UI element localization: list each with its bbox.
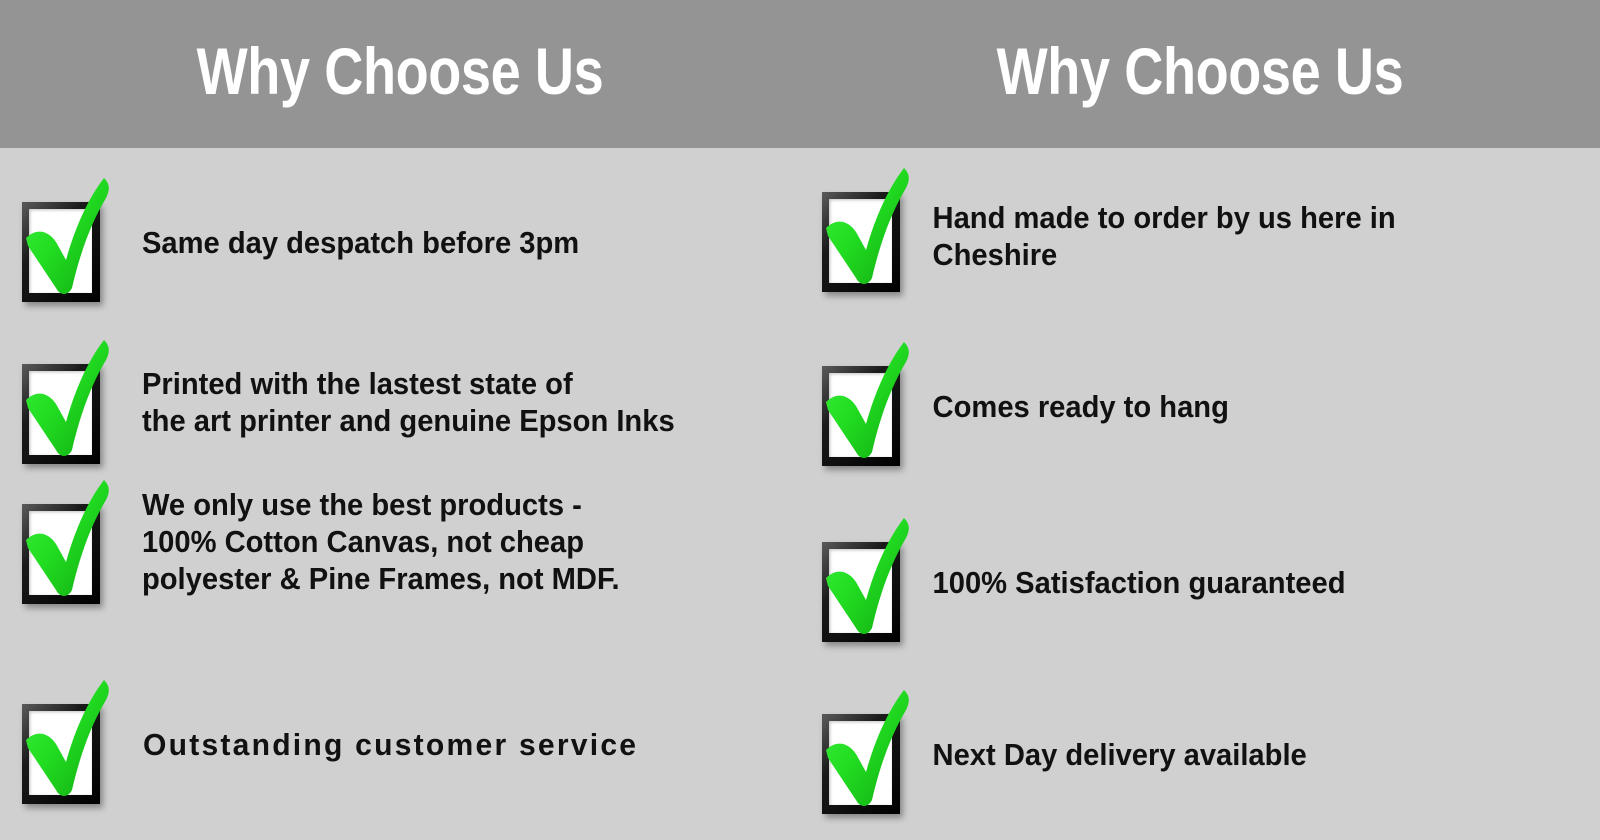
feature-label: Next Day delivery available: [910, 688, 1307, 773]
feature-label: Hand made to order by us here in Cheshir…: [910, 166, 1396, 273]
list-item: Comes ready to hang: [814, 340, 1249, 466]
page-title-right: Why Choose Us: [997, 38, 1404, 110]
feature-columns: Same day despatch before 3pm Printed wit…: [0, 148, 1600, 840]
right-feature-column: Hand made to order by us here in Cheshir…: [800, 148, 1600, 840]
list-item: Outstanding customer service: [14, 678, 655, 804]
checkmark-icon: [814, 340, 910, 466]
feature-label: Comes ready to hang: [910, 340, 1229, 425]
green-check-box-icon: [14, 338, 110, 464]
list-item: We only use the best products - 100% Cot…: [14, 478, 652, 604]
checkmark-icon: [814, 688, 910, 814]
why-choose-us-banner: Why Choose Us Why Choose Us: [0, 0, 1600, 840]
checkmark-icon: [14, 478, 110, 604]
left-feature-column: Same day despatch before 3pm Printed wit…: [0, 148, 800, 840]
banner-header: Why Choose Us Why Choose Us: [0, 0, 1600, 148]
checkmark-icon: [14, 176, 110, 302]
green-check-box-icon: [14, 678, 110, 804]
page-title-left: Why Choose Us: [197, 38, 604, 110]
checkmark-icon: [14, 678, 110, 804]
green-check-box-icon: [814, 166, 910, 292]
list-item: Next Day delivery available: [814, 688, 1332, 814]
header-right: Why Choose Us: [800, 0, 1600, 148]
green-check-box-icon: [814, 516, 910, 642]
checkmark-icon: [14, 338, 110, 464]
feature-label: 100% Satisfaction guaranteed: [910, 516, 1346, 601]
feature-label: We only use the best products - 100% Cot…: [110, 478, 620, 597]
checkmark-icon: [814, 516, 910, 642]
green-check-box-icon: [14, 176, 110, 302]
green-check-box-icon: [14, 478, 110, 604]
list-item: Printed with the lastest state of the ar…: [14, 338, 711, 464]
header-left: Why Choose Us: [0, 0, 800, 148]
feature-label: Printed with the lastest state of the ar…: [110, 338, 675, 439]
checkmark-icon: [814, 166, 910, 292]
green-check-box-icon: [814, 340, 910, 466]
list-item: 100% Satisfaction guaranteed: [814, 516, 1373, 642]
feature-label: Outstanding customer service: [110, 678, 638, 763]
green-check-box-icon: [814, 688, 910, 814]
list-item: Same day despatch before 3pm: [14, 176, 609, 302]
list-item: Hand made to order by us here in Cheshir…: [814, 166, 1427, 292]
feature-label: Same day despatch before 3pm: [110, 176, 579, 261]
